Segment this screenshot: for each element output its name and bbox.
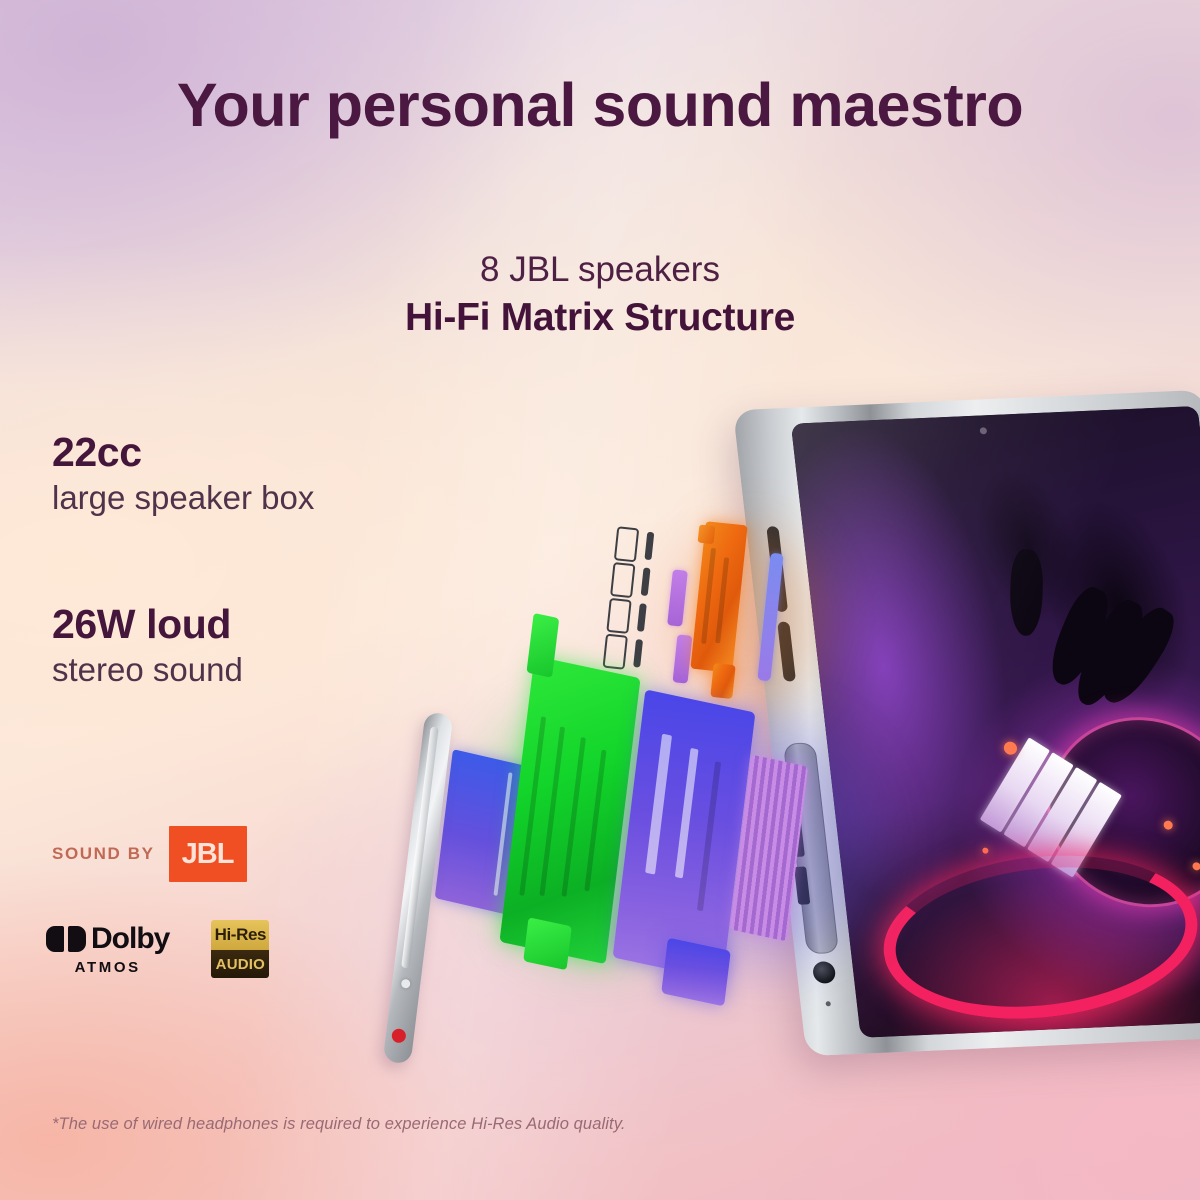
jbl-brand-block: SOUND BY JBL [52, 826, 247, 882]
jbl-logo-text: JBL [182, 838, 234, 871]
spec-value-power: 26W loud [52, 602, 243, 646]
speaker-grille-outline [603, 526, 640, 668]
product-poster: Your personal sound maestro 8 JBL speake… [0, 0, 1200, 1200]
hi-res-audio-badge-icon: Hi-Res AUDIO [211, 920, 269, 978]
blue-speaker-chassis [613, 689, 756, 980]
exploded-speaker-assembly [0, 0, 1200, 1200]
jbl-logo-icon: JBL [169, 826, 247, 882]
stylus-tip [391, 1028, 407, 1044]
subtitle-structure-name: Hi-Fi Matrix Structure [0, 296, 1200, 340]
dolby-label: Dolby [91, 924, 169, 954]
violet-spacer-bar-top [667, 569, 688, 626]
spec-item-power: 26W loud stereo sound [52, 602, 243, 691]
sound-by-label: SOUND BY [52, 844, 155, 864]
speaker-grille-strips [633, 532, 662, 673]
hi-res-audio-label: AUDIO [211, 950, 269, 978]
stylus-groove [401, 726, 439, 968]
orange-speaker-module [690, 521, 747, 673]
blue-speaker-chassis-foot [661, 938, 731, 1007]
disclaimer-footnote: *The use of wired headphones is required… [52, 1115, 626, 1134]
dolby-double-d-icon [46, 926, 86, 952]
blue-connector-bar [757, 553, 783, 682]
spec-value-volume: 22cc [52, 430, 314, 474]
orange-speaker-module-tail [710, 663, 735, 699]
violet-spacer-bar-bottom [673, 634, 693, 683]
spec-desc-power: stereo sound [52, 650, 243, 691]
subtitle-speaker-count: 8 JBL speakers [0, 250, 1200, 290]
hi-res-label: Hi-Res [211, 920, 269, 950]
audio-certification-badges: Dolby ATMOS Hi-Res AUDIO [46, 920, 269, 978]
stylus-button [401, 979, 411, 989]
page-title: Your personal sound maestro [0, 70, 1200, 140]
spec-desc-volume: large speaker box [52, 478, 314, 519]
dolby-atmos-label: ATMOS [75, 960, 141, 975]
dolby-atmos-logo-icon: Dolby ATMOS [46, 924, 169, 975]
dolby-wordmark: Dolby [46, 924, 169, 954]
spec-item-volume: 22cc large speaker box [52, 430, 314, 519]
